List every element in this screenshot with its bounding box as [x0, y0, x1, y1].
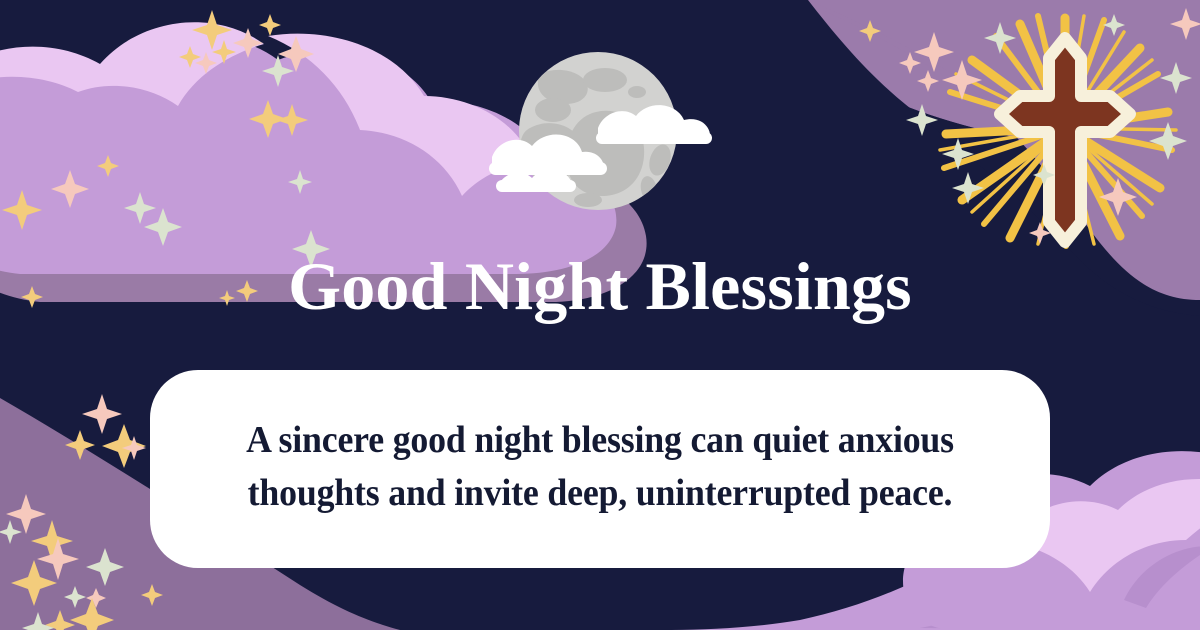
- text-content-layer: Good Night Blessings A sincere good nigh…: [0, 0, 1200, 630]
- page-title: Good Night Blessings: [0, 252, 1200, 320]
- quote-card: A sincere good night blessing can quiet …: [150, 370, 1050, 568]
- poster-canvas: Good Night Blessings A sincere good nigh…: [0, 0, 1200, 630]
- quote-text: A sincere good night blessing can quiet …: [224, 414, 975, 520]
